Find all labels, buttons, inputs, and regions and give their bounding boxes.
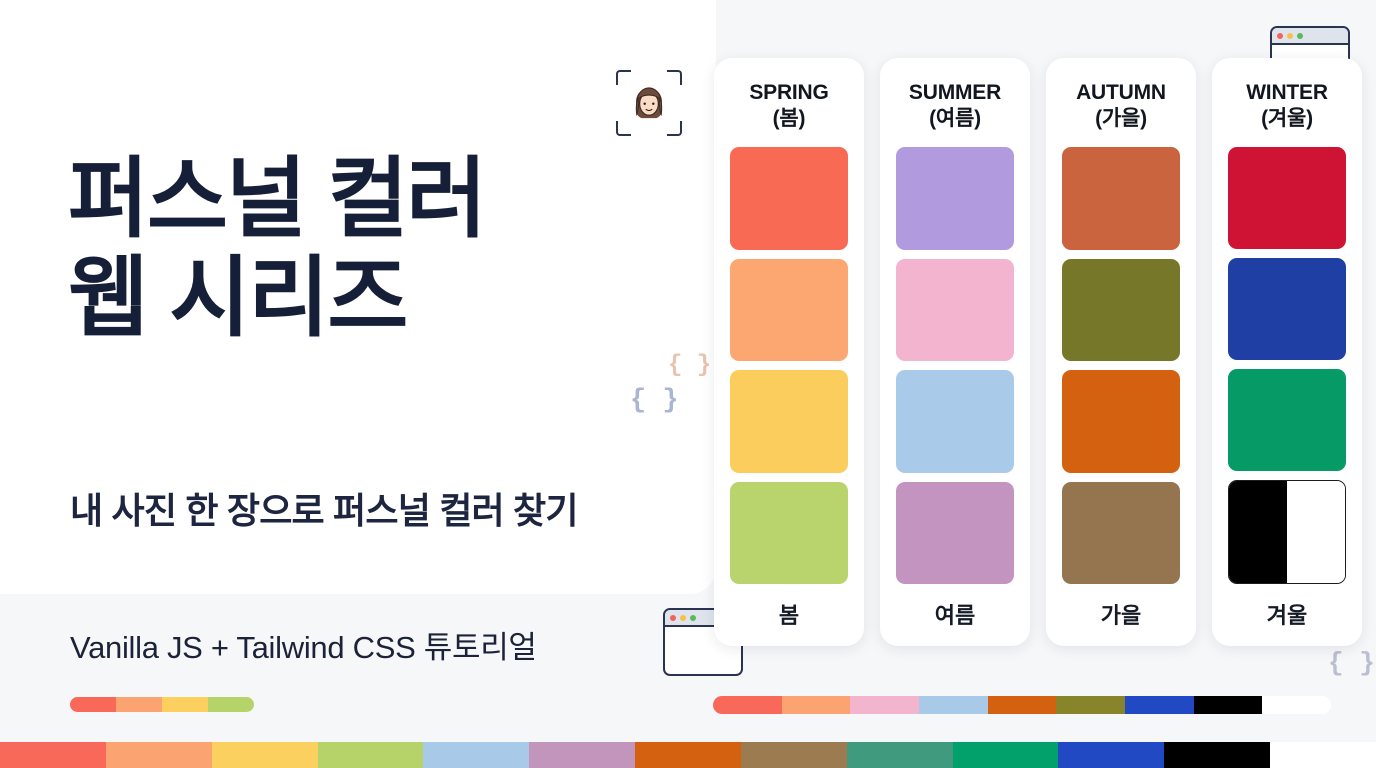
- bottom-color-strip: [0, 742, 1376, 768]
- palette-bar-segment: [1194, 696, 1263, 714]
- bottom-strip-segment: [423, 742, 529, 768]
- season-card-winter[interactable]: WINTER (겨울)겨울: [1212, 58, 1362, 646]
- color-swatch[interactable]: [1228, 258, 1346, 360]
- color-swatch[interactable]: [730, 370, 848, 472]
- color-swatch[interactable]: [1062, 370, 1180, 472]
- brace-decoration-blue: { }: [630, 386, 679, 416]
- season-card-summer[interactable]: SUMMER (여름)여름: [880, 58, 1030, 646]
- browser-dot-yellow: [680, 615, 686, 621]
- color-swatch[interactable]: [896, 147, 1014, 249]
- swatch-list: [1226, 147, 1348, 584]
- palette-bar-segment: [988, 696, 1057, 714]
- browser-dot-red: [670, 615, 676, 621]
- bottom-strip-segment: [0, 742, 106, 768]
- season-card-spring[interactable]: SPRING (봄)봄: [714, 58, 864, 646]
- slide-canvas: 퍼스널 컬러 웹 시리즈 내 사진 한 장으로 퍼스널 컬러 찾기 { } { …: [0, 0, 1376, 768]
- face-scan-icon: [616, 70, 682, 136]
- palette-bar-segment: [782, 696, 851, 714]
- palette-bar-segment: [850, 696, 919, 714]
- bottom-strip-segment: [635, 742, 741, 768]
- color-swatch[interactable]: [730, 259, 848, 361]
- bottom-strip-segment: [953, 742, 1059, 768]
- bottom-strip-segment: [741, 742, 847, 768]
- color-swatch-split[interactable]: [1228, 480, 1346, 584]
- season-card-autumn[interactable]: AUTUMN (가을)가을: [1046, 58, 1196, 646]
- swatch-list: [894, 147, 1016, 584]
- browser-dot-yellow: [1287, 33, 1293, 39]
- swatch-half-right: [1287, 481, 1345, 583]
- swatch-list: [728, 147, 850, 584]
- bottom-strip-segment: [1164, 742, 1270, 768]
- color-swatch[interactable]: [730, 482, 848, 584]
- color-swatch[interactable]: [1228, 369, 1346, 471]
- season-card-footer-label: 봄: [779, 598, 799, 630]
- person-face-icon: [626, 80, 672, 126]
- season-card-footer-label: 가을: [1101, 598, 1141, 630]
- brace-decoration-gray: { }: [1328, 648, 1375, 678]
- season-card-title: AUTUMN (가을): [1076, 80, 1166, 131]
- season-card-title: SUMMER (여름): [909, 80, 1001, 131]
- swatch-half-left: [1229, 481, 1287, 583]
- brace-decoration-peach: { }: [668, 352, 711, 379]
- color-swatch[interactable]: [896, 259, 1014, 361]
- accent-pill-segment: [208, 697, 254, 712]
- color-swatch[interactable]: [1228, 147, 1346, 249]
- color-swatch[interactable]: [896, 482, 1014, 584]
- palette-bar-segment: [1056, 696, 1125, 714]
- color-swatch[interactable]: [1062, 147, 1180, 249]
- accent-pill-segment: [70, 697, 116, 712]
- bottom-strip-segment: [106, 742, 212, 768]
- color-swatch[interactable]: [1062, 482, 1180, 584]
- swatch-list: [1060, 147, 1182, 584]
- season-card-footer-label: 여름: [935, 598, 975, 630]
- bottom-strip-segment: [1270, 742, 1376, 768]
- season-card-footer-label: 겨울: [1267, 598, 1307, 630]
- color-swatch[interactable]: [1062, 259, 1180, 361]
- season-card-title: SPRING (봄): [749, 80, 828, 131]
- color-swatch[interactable]: [896, 370, 1014, 472]
- browser-dot-green: [690, 615, 696, 621]
- browser-titlebar: [1272, 28, 1348, 45]
- palette-bar-segment: [713, 696, 782, 714]
- palette-summary-bar: [713, 696, 1331, 714]
- bottom-strip-segment: [1058, 742, 1164, 768]
- bottom-strip-segment: [212, 742, 318, 768]
- bottom-strip-segment: [318, 742, 424, 768]
- accent-color-pill: [70, 697, 254, 712]
- bottom-strip-segment: [529, 742, 635, 768]
- browser-dot-green: [1297, 33, 1303, 39]
- browser-dot-red: [1277, 33, 1283, 39]
- bottom-strip-segment: [847, 742, 953, 768]
- color-swatch[interactable]: [730, 147, 848, 249]
- footer-caption: Vanilla JS + Tailwind CSS 튜토리얼: [70, 622, 537, 667]
- season-card-title: WINTER (겨울): [1246, 80, 1328, 131]
- season-card-list: SPRING (봄)봄SUMMER (여름)여름AUTUMN (가을)가을WIN…: [714, 58, 1362, 646]
- palette-bar-segment: [1262, 696, 1331, 714]
- accent-pill-segment: [116, 697, 162, 712]
- hero-subtitle: 내 사진 한 장으로 퍼스널 컬러 찾기: [70, 482, 578, 534]
- hero-title: 퍼스널 컬러 웹 시리즈: [68, 150, 688, 347]
- accent-pill-segment: [162, 697, 208, 712]
- palette-bar-segment: [919, 696, 988, 714]
- palette-bar-segment: [1125, 696, 1194, 714]
